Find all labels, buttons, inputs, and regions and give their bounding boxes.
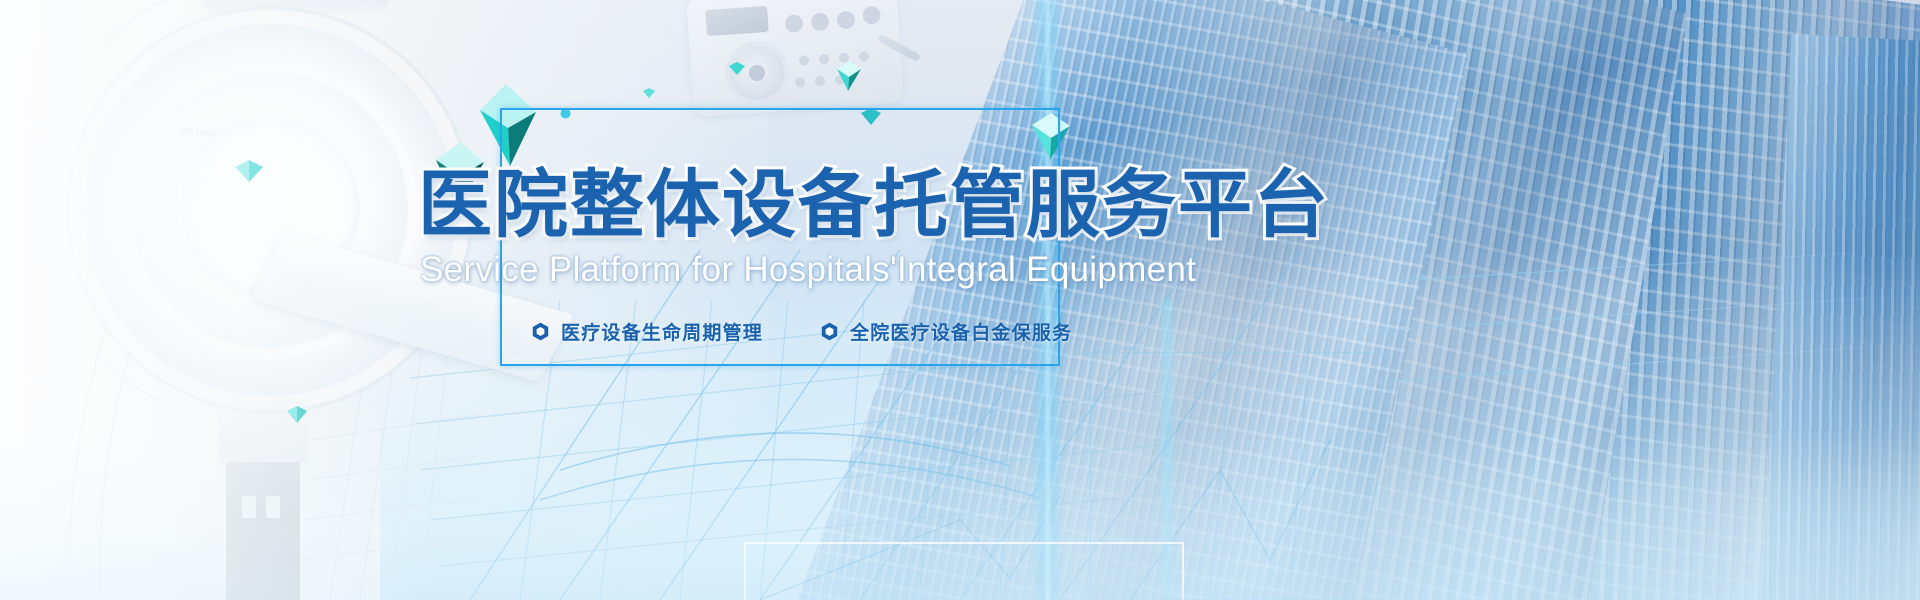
console-knob-row: [781, 1, 883, 42]
console-screen: [705, 6, 769, 36]
cart-body: [226, 462, 300, 600]
ultrasound-console-image: [690, 0, 900, 120]
teal-crystal-decoration: [728, 62, 746, 76]
teal-crystal-decoration: [430, 140, 486, 210]
hero-banner: SOMATOM Definition AS: [0, 0, 1920, 600]
faint-accent-frame: [1090, 352, 1390, 600]
accent-frame-rectangle: [500, 108, 1060, 366]
cart-display-right: [266, 496, 280, 518]
teal-crystal-decoration: [642, 88, 656, 99]
cart-display-left: [242, 496, 256, 518]
teal-crystal-decoration: [836, 60, 862, 92]
teal-crystal-decoration: [286, 406, 308, 424]
teal-crystal-decoration: [234, 160, 264, 184]
equipment-cart-image: [200, 400, 324, 600]
